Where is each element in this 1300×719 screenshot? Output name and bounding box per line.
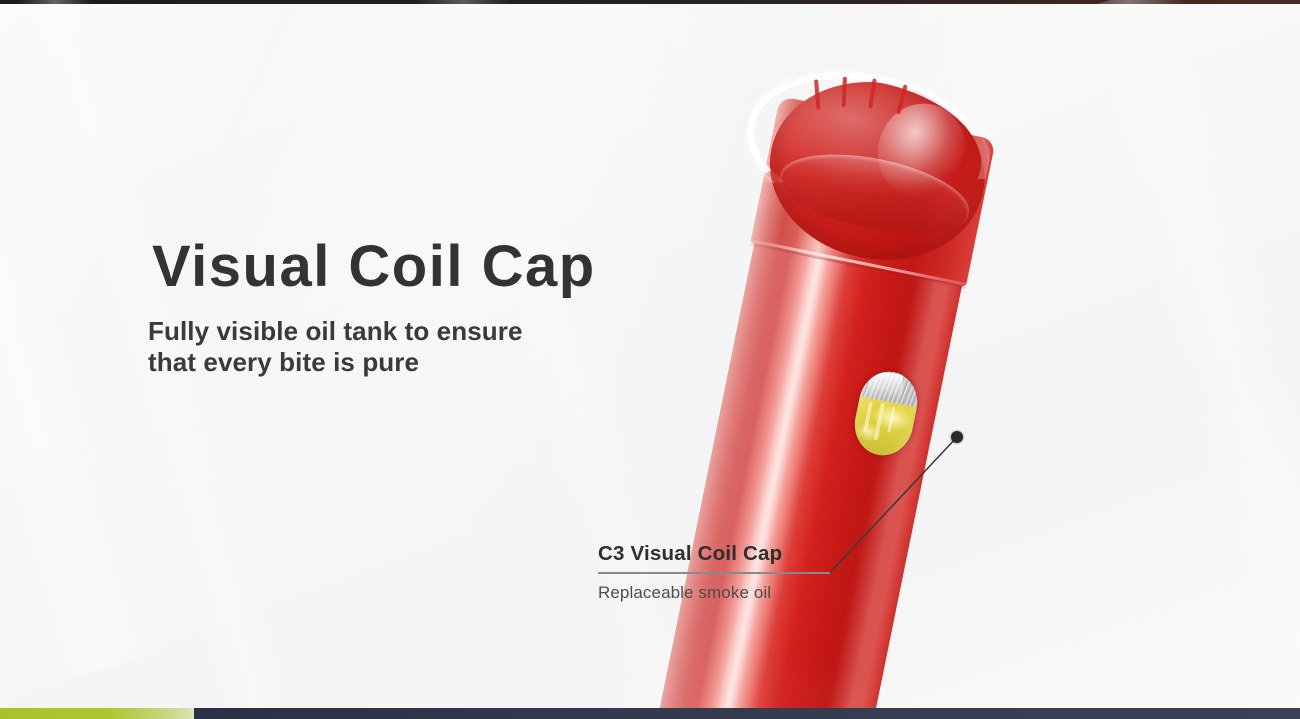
background-streak — [1075, 0, 1300, 719]
vape-pen-product-image — [605, 48, 1039, 719]
subcopy-line-1: Fully visible oil tank to ensure — [148, 316, 578, 347]
bottom-accent-bar-navy — [194, 708, 1300, 719]
background-streak — [0, 55, 163, 684]
page-subcopy: Fully visible oil tank to ensure that ev… — [148, 316, 578, 377]
page-title: Visual Coil Cap — [152, 238, 596, 296]
product-feature-banner: C3 Visual Coil Cap Replaceable smoke oil… — [0, 0, 1300, 719]
bottom-accent-bar-green — [0, 708, 196, 719]
subcopy-line-2: that every bite is pure — [148, 347, 578, 378]
top-edge-bar — [0, 0, 1300, 4]
